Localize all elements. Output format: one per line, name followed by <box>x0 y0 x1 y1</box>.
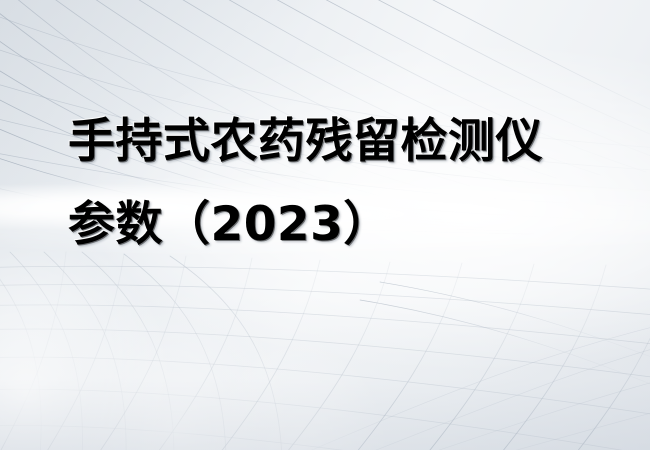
title-banner: 手持式农药残留检测仪 参数（2023） <box>0 0 650 450</box>
page-title: 手持式农药残留检测仪 参数（2023） <box>68 118 628 248</box>
title-line-primary: 手持式农药残留检测仪 <box>68 118 628 165</box>
title-line-secondary: 参数（2023） <box>68 201 628 248</box>
